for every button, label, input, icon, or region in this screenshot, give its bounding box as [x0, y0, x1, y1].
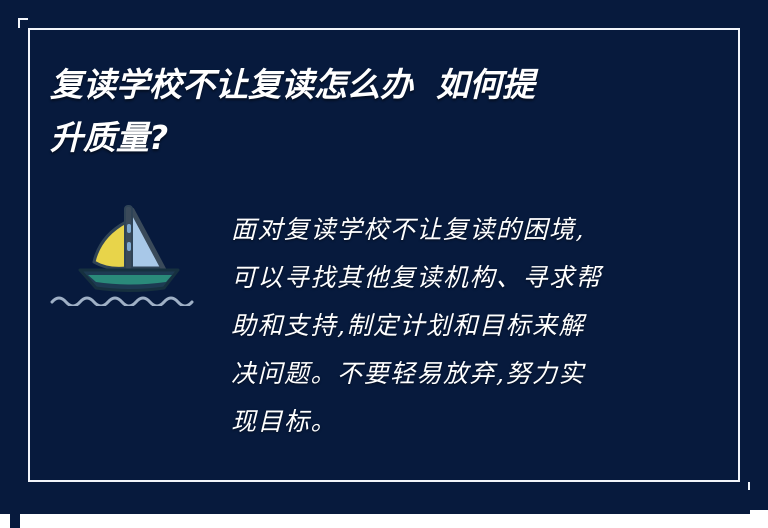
- jib-sail-shape: [94, 222, 126, 268]
- title-line-2: 升质量?: [50, 111, 670, 164]
- frame-mask-bottom: [0, 490, 750, 514]
- info-card: 复读学校不让复读怎么办 如何提 升质量? 面对复读学校不让复读的困境, 可以: [0, 0, 768, 510]
- body-line-4: 决问题。不要轻易放弃,努力实: [231, 350, 651, 398]
- body-line-3: 助和支持,制定计划和目标来解: [231, 302, 651, 350]
- body-text: 面对复读学校不让复读的困境, 可以寻找其他复读机构、寻求帮 助和支持,制定计划和…: [231, 206, 651, 446]
- wave-shape: [52, 298, 192, 306]
- frame-mask-left: [10, 28, 20, 528]
- sailboat-icon: [50, 196, 210, 306]
- mast-shape: [125, 206, 132, 270]
- body-line-2: 可以寻找其他复读机构、寻求帮: [231, 254, 651, 302]
- frame-mask-top: [28, 10, 768, 20]
- page-title: 复读学校不让复读怎么办 如何提 升质量?: [50, 58, 670, 164]
- frame-mask-right: [748, 0, 768, 482]
- mast-fitting-upper-shape: [127, 224, 131, 233]
- body-line-1: 面对复读学校不让复读的困境,: [231, 206, 651, 254]
- title-line-1: 复读学校不让复读怎么办 如何提: [50, 58, 670, 111]
- mast-fitting-lower-shape: [127, 242, 131, 251]
- body-line-5: 现目标。: [231, 398, 651, 446]
